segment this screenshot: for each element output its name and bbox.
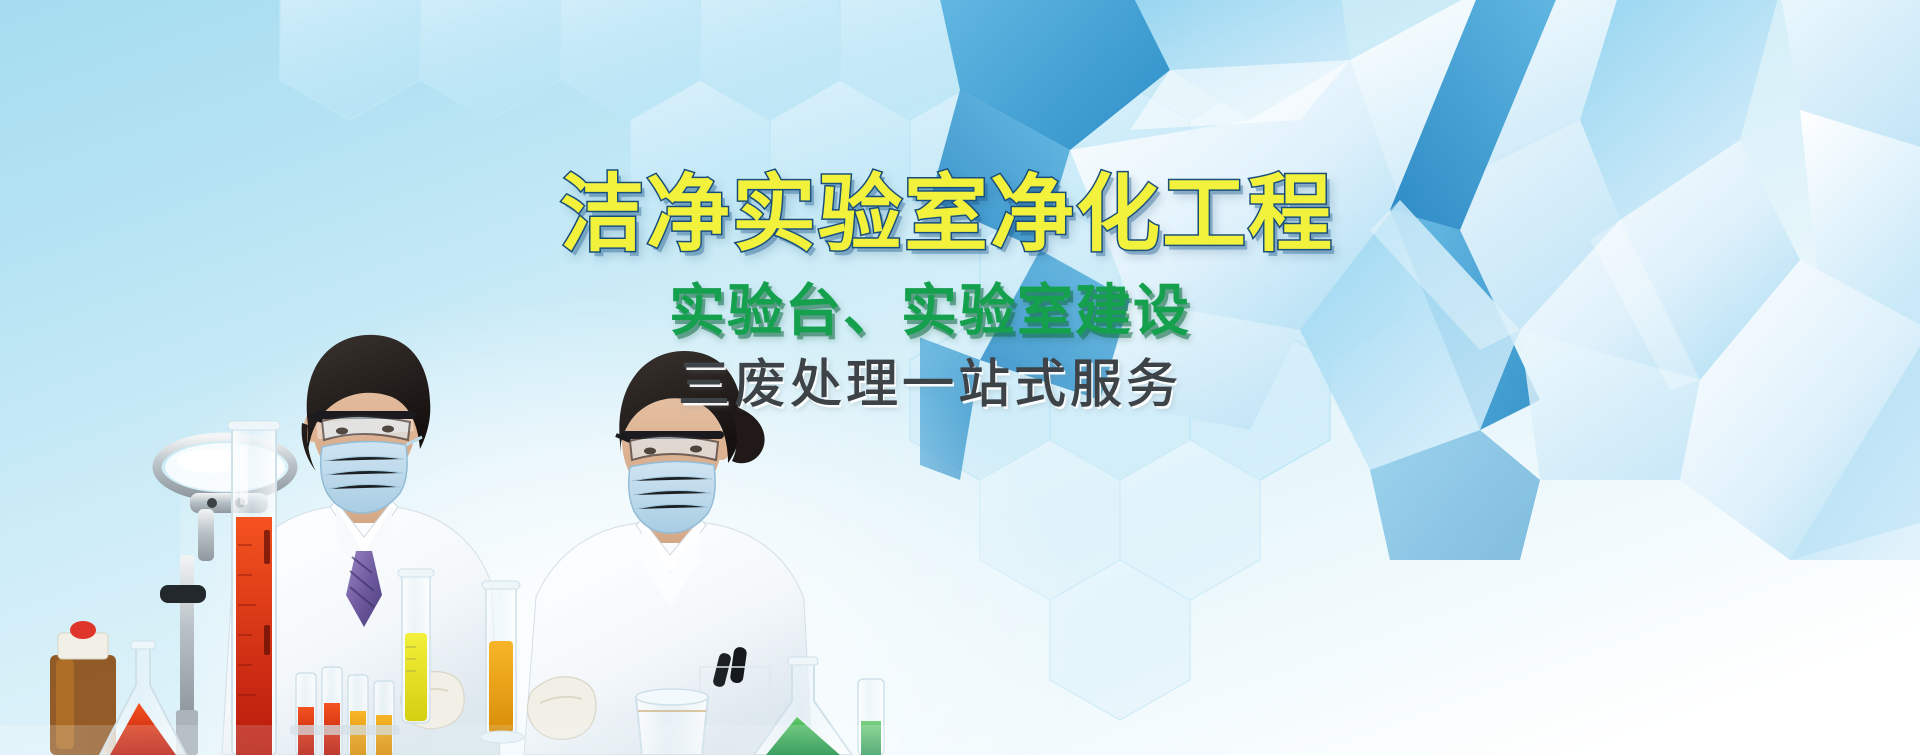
headline-primary: 洁净实验室净化工程 [560,172,1300,258]
yellow-test-tube [398,569,434,723]
face-mask-male [321,437,422,513]
red-graduated-cylinder [228,421,280,755]
headline-block: 洁净实验室净化工程 实验台、实验室建设 三废处理一站式服务 [560,172,1300,413]
promo-banner: 洁净实验室净化工程 实验台、实验室建设 三废处理一站式服务 [0,0,1920,755]
amber-test-tube [480,581,524,743]
headline-secondary: 实验台、实验室建设 [560,282,1300,341]
headline-tagline: 三废处理一站式服务 [560,358,1300,413]
